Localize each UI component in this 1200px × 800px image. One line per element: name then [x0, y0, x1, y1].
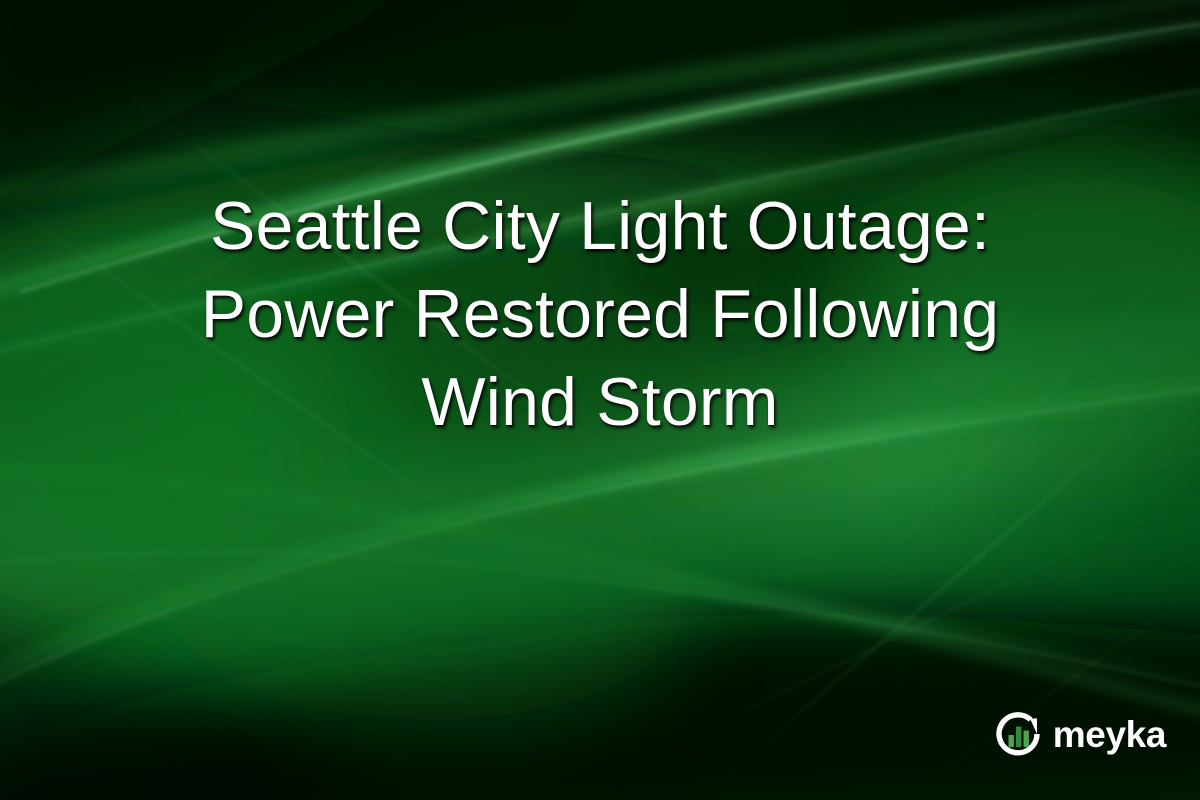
circular-bar-chart-logo-icon	[992, 708, 1044, 760]
title-line-1: Seattle City Light Outage:	[70, 182, 1130, 270]
share-card: Seattle City Light Outage: Power Restore…	[0, 0, 1200, 800]
title-line-2: Power Restored Following	[70, 270, 1130, 358]
page-title: Seattle City Light Outage: Power Restore…	[0, 182, 1200, 446]
brand-wordmark: meyka	[1053, 716, 1166, 753]
title-line-3: Wind Storm	[70, 358, 1130, 446]
brand-logo[interactable]: meyka	[992, 708, 1166, 760]
